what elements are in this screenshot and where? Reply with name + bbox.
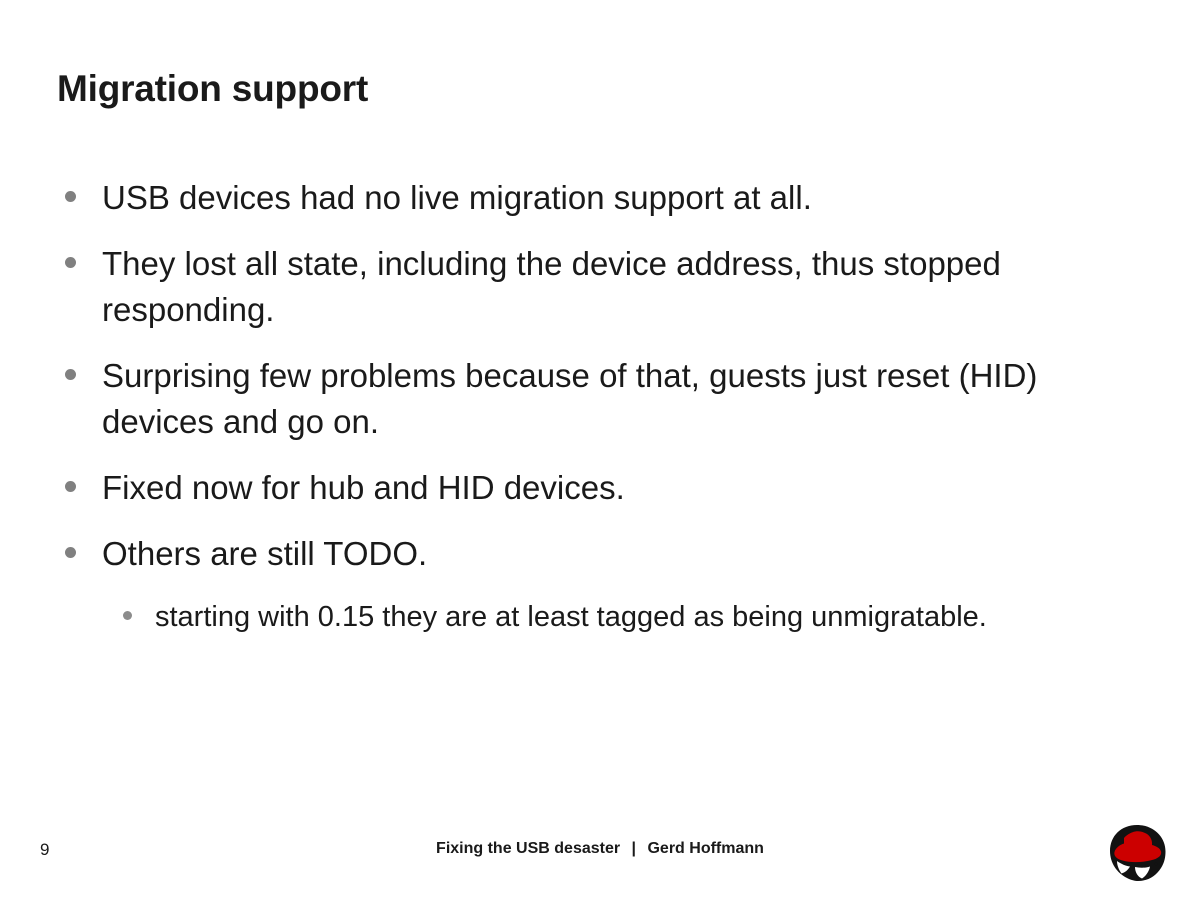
- sub-list-item-label: starting with 0.15 they are at least tag…: [155, 597, 987, 638]
- list-item-label: Surprising few problems because of that,…: [102, 353, 1102, 445]
- footer-caption: Fixing the USB desaster | Gerd Hoffmann: [0, 840, 1200, 858]
- bullet-marker-icon: [65, 241, 102, 268]
- list-item: Others are still TODO.: [57, 531, 1147, 577]
- footer-presentation-title: Fixing the USB desaster: [436, 840, 620, 857]
- sub-list-item: starting with 0.15 they are at least tag…: [57, 597, 1147, 638]
- page-title: Migration support: [57, 68, 368, 111]
- list-item-label: Fixed now for hub and HID devices.: [102, 465, 625, 511]
- list-item-label: They lost all state, including the devic…: [102, 241, 1102, 333]
- list-item: Surprising few problems because of that,…: [57, 353, 1147, 445]
- red-hat-shadowman-logo: [1106, 824, 1168, 882]
- bullet-marker-icon: [65, 175, 102, 202]
- slide-footer: 9 Fixing the USB desaster | Gerd Hoffman…: [0, 824, 1200, 900]
- bullet-marker-icon: [65, 353, 102, 380]
- sub-bullet-marker-icon: [123, 597, 155, 620]
- footer-separator: |: [625, 840, 643, 858]
- list-item: They lost all state, including the devic…: [57, 241, 1147, 333]
- slide: Migration support USB devices had no liv…: [0, 0, 1200, 900]
- bullet-marker-icon: [65, 531, 102, 558]
- bullet-list: USB devices had no live migration suppor…: [57, 175, 1147, 654]
- bullet-marker-icon: [65, 465, 102, 492]
- list-item-label: USB devices had no live migration suppor…: [102, 175, 812, 221]
- list-item: Fixed now for hub and HID devices.: [57, 465, 1147, 511]
- list-item: USB devices had no live migration suppor…: [57, 175, 1147, 221]
- footer-author: Gerd Hoffmann: [647, 840, 763, 857]
- list-item-label: Others are still TODO.: [102, 531, 427, 577]
